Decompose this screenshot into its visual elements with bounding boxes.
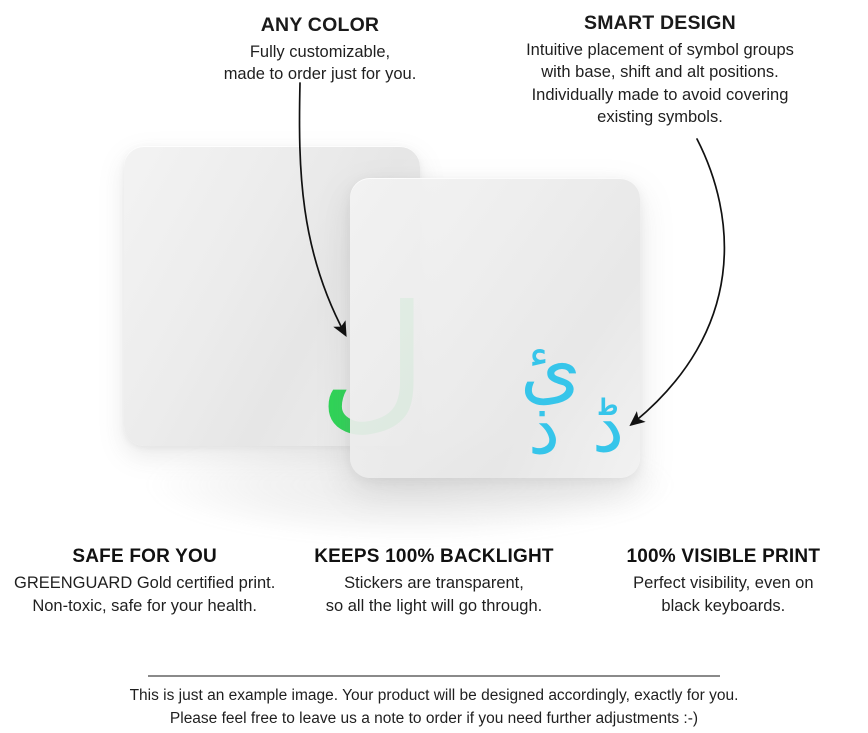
keycap-base bbox=[124, 146, 420, 446]
callout-any-color-title: ANY COLOR bbox=[180, 14, 460, 37]
footer-note-line-2: Please feel free to leave us a note to o… bbox=[0, 707, 868, 730]
callout-keeps-backlight-line-1: Stickers are transparent, bbox=[289, 572, 578, 595]
callout-safe-for-you-line-2: Non-toxic, safe for your health. bbox=[0, 595, 289, 618]
product-info-graphic: ANY COLOR Fully customizable, made to or… bbox=[0, 0, 868, 733]
arabic-letter-lam: ل bbox=[318, 286, 427, 436]
keycap-drop-shadow bbox=[150, 430, 670, 540]
arabic-letter-dal-with-small-tah: ڈ bbox=[592, 390, 624, 462]
footer-divider bbox=[148, 675, 720, 677]
callout-visible-print-line-2: black keyboards. bbox=[579, 595, 868, 618]
callout-safe-for-you-title: SAFE FOR YOU bbox=[0, 546, 289, 568]
arabic-letter-thal: ذ bbox=[528, 392, 560, 464]
callout-any-color-line-2: made to order just for you. bbox=[180, 63, 460, 85]
callout-visible-print-title: 100% VISIBLE PRINT bbox=[579, 546, 868, 568]
callout-keeps-backlight-title: KEEPS 100% BACKLIGHT bbox=[289, 546, 578, 568]
callout-safe-for-you: SAFE FOR YOU GREENGUARD Gold certified p… bbox=[0, 546, 289, 618]
callout-smart-design: SMART DESIGN Intuitive placement of symb… bbox=[490, 12, 830, 129]
callout-keeps-backlight: KEEPS 100% BACKLIGHT Stickers are transp… bbox=[289, 546, 578, 618]
transparent-sticker bbox=[350, 178, 640, 478]
footer-note-line-1: This is just an example image. Your prod… bbox=[0, 684, 868, 707]
callout-any-color: ANY COLOR Fully customizable, made to or… bbox=[180, 14, 460, 86]
callout-keeps-backlight-line-2: so all the light will go through. bbox=[289, 595, 578, 618]
callout-smart-design-line-3: Individually made to avoid covering bbox=[490, 84, 830, 106]
callout-safe-for-you-line-1: GREENGUARD Gold certified print. bbox=[0, 572, 289, 595]
arabic-letter-yeh-with-hamza: ئ bbox=[520, 330, 581, 408]
arrow-smart-design-to-blue-glyphs bbox=[632, 139, 724, 424]
callout-smart-design-title: SMART DESIGN bbox=[490, 12, 830, 35]
arrow-any-color-to-green-glyph bbox=[300, 83, 345, 334]
callout-smart-design-line-2: with base, shift and alt positions. bbox=[490, 61, 830, 83]
callout-visible-print-line-1: Perfect visibility, even on bbox=[579, 572, 868, 595]
bottom-callout-row: SAFE FOR YOU GREENGUARD Gold certified p… bbox=[0, 546, 868, 618]
callout-visible-print: 100% VISIBLE PRINT Perfect visibility, e… bbox=[579, 546, 868, 618]
callout-smart-design-line-4: existing symbols. bbox=[490, 106, 830, 128]
callout-smart-design-line-1: Intuitive placement of symbol groups bbox=[490, 39, 830, 61]
footer-note: This is just an example image. Your prod… bbox=[0, 684, 868, 731]
callout-any-color-line-1: Fully customizable, bbox=[180, 41, 460, 63]
